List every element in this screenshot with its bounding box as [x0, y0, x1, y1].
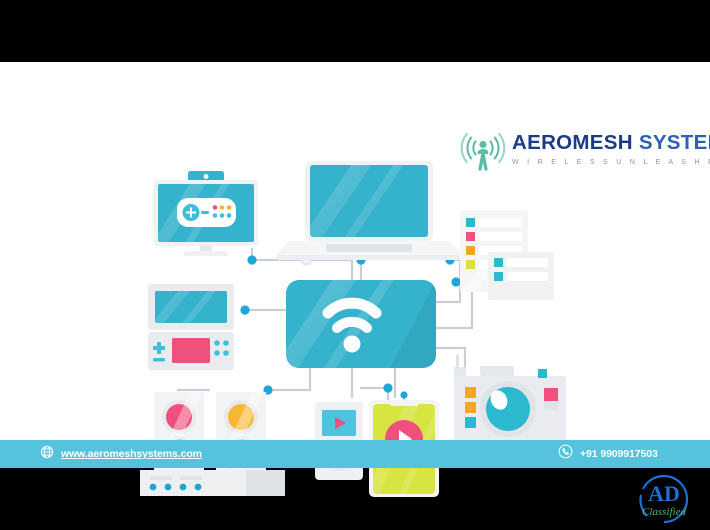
content-card: AEROMESH SYSTEMS W I R E L E S S U N L E… — [0, 62, 710, 440]
document-windows — [460, 210, 554, 300]
website-link[interactable]: www.aeromeshsystems.com — [40, 440, 202, 468]
website-text: www.aeromeshsystems.com — [61, 448, 202, 460]
gamepad-icon — [177, 198, 236, 227]
ad-classified-watermark: AD Classified — [628, 473, 700, 525]
screenshot-root: AEROMESH SYSTEMS W I R E L E S S U N L E… — [0, 0, 710, 530]
camera — [454, 355, 566, 442]
phone-contact[interactable]: +91 9909917503 — [558, 440, 658, 468]
brand-name-part1: AEROMESH — [512, 131, 633, 154]
brand-name-part2: SYSTEMS — [639, 131, 710, 154]
phone-icon — [558, 444, 573, 464]
phone-text: +91 9909917503 — [580, 448, 658, 460]
gaming-monitor — [150, 171, 258, 256]
wifi-dot — [344, 336, 361, 353]
contact-footer-bar: www.aeromeshsystems.com +91 9909917503 — [0, 440, 710, 468]
watermark-classified-text: Classified — [642, 506, 687, 518]
handheld-console — [148, 284, 234, 370]
watermark-ad-text: AD — [648, 481, 680, 506]
laptop — [276, 158, 462, 260]
wifi-router-hub — [270, 274, 436, 374]
camera-side-buttons — [465, 387, 476, 428]
globe-icon — [40, 445, 54, 464]
